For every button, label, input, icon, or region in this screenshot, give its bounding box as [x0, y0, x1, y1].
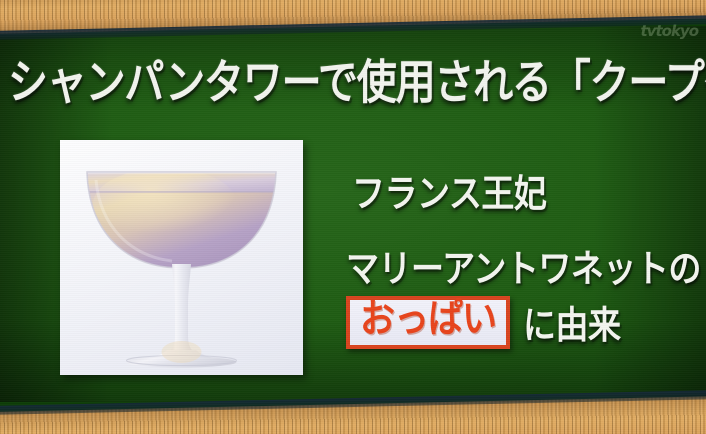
- broadcast-screenshot: シャンパンタワーで使用される「クープグラス」: [0, 0, 706, 434]
- text-line-3-row: おっぱい に由来: [346, 296, 621, 349]
- highlight-box: おっぱい: [346, 296, 510, 349]
- headline-title: シャンパンタワーで使用される「クープグラス」: [8, 44, 706, 112]
- text-line-1: フランス王妃: [352, 163, 546, 218]
- text-line-2: マリーアントワネットの: [346, 238, 701, 293]
- highlight-word: おっぱい: [360, 300, 496, 342]
- glass-image-panel: [60, 140, 303, 375]
- text-line-3-suffix: に由来: [523, 295, 621, 350]
- coupe-glass-icon: [60, 140, 303, 375]
